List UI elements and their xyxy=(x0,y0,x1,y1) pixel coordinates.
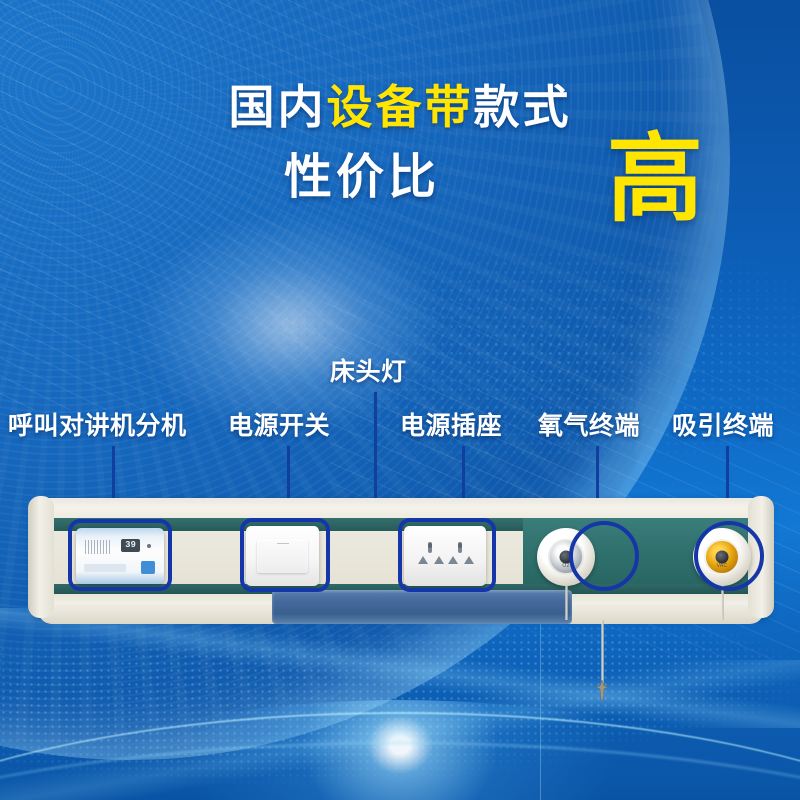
oxygen-cord xyxy=(565,586,568,620)
headline-part-1: 国内 xyxy=(229,81,327,133)
highlight-ring-oxygen xyxy=(569,521,639,591)
cord-hook-icon xyxy=(595,680,609,700)
highlight-box-socket xyxy=(398,518,496,592)
headline-block: 国内设备带款式 性价比 高 xyxy=(0,84,800,130)
callout-label-power-switch: 电源开关 xyxy=(228,414,330,439)
callout-label-power-socket: 电源插座 xyxy=(400,414,502,439)
highlight-ring-suction xyxy=(694,521,764,591)
callout-label-oxygen-terminal: 氧气终端 xyxy=(538,414,640,439)
headline-line-2: 性价比 xyxy=(284,154,440,202)
light-sweep-2 xyxy=(0,660,800,800)
panel-end-cap-left xyxy=(28,496,54,618)
callout-label-bed-lamp: 床头灯 xyxy=(330,360,407,385)
callout-label-nurse-call-intercom: 呼叫对讲机分机 xyxy=(8,414,187,439)
callout-label-suction-terminal: 吸引终端 xyxy=(672,414,774,439)
promo-banner: 国内设备带款式 性价比 高 呼叫对讲机分机 电源开关 床头灯 电源插座 氧气终端… xyxy=(0,0,800,800)
suction-cord-upper xyxy=(721,586,724,620)
headline-part-2: 款式 xyxy=(474,81,572,133)
highlight-box-switch xyxy=(240,518,330,592)
headline-emphasis: 高 xyxy=(607,132,703,228)
highlight-box-intercom xyxy=(68,519,172,591)
headline-line-1: 国内设备带款式 xyxy=(0,84,800,130)
vertical-guide-line xyxy=(540,620,541,800)
bed-lamp-diffuser[interactable] xyxy=(272,590,572,624)
oxygen-terminal-label: O2 xyxy=(562,563,569,569)
headline-highlight: 设备带 xyxy=(327,81,474,133)
